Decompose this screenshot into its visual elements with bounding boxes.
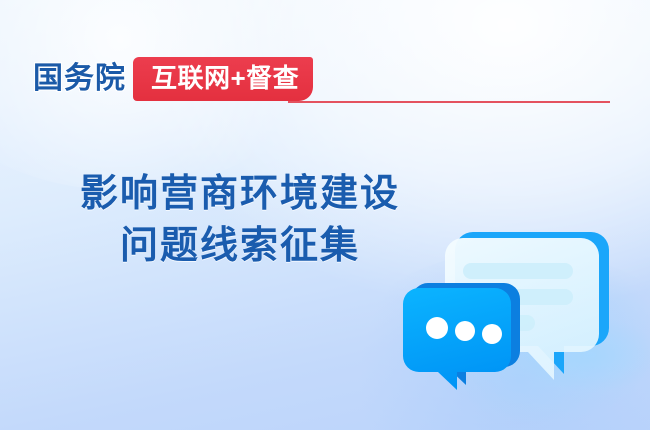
chat-bubbles-illustration — [395, 200, 650, 430]
program-badge-label: 互联网+督查 — [151, 65, 299, 91]
typing-dot-1 — [426, 317, 448, 339]
big-bubble-text-line-1 — [463, 263, 573, 279]
promo-banner: 国务院 互联网+督查 影响营商环境建设 问题线索征集 — [0, 0, 650, 430]
program-badge: 互联网+督查 — [133, 57, 313, 101]
typing-dot-2 — [455, 321, 475, 341]
government-label: 国务院 — [33, 55, 126, 103]
header-divider-line — [288, 101, 610, 103]
typing-dot-3 — [482, 324, 502, 344]
banner-header: 国务院 互联网+督查 — [0, 55, 650, 103]
